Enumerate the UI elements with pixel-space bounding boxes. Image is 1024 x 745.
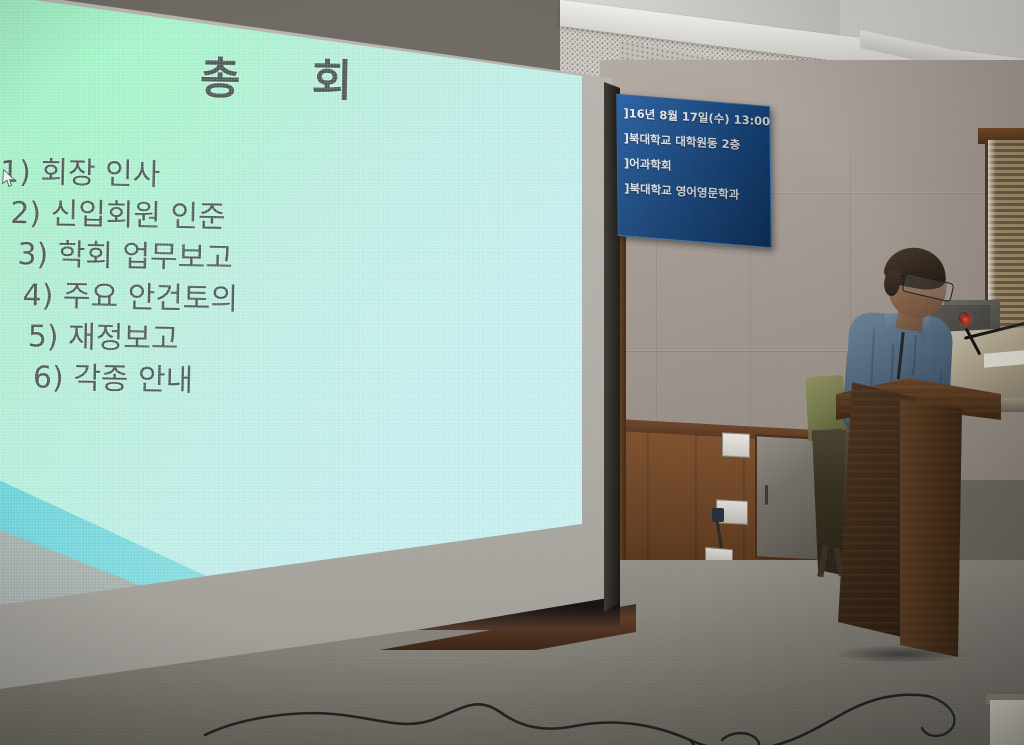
list-item: 5) 재정보고	[0, 316, 238, 362]
list-item: 2) 신입회원 인준	[0, 193, 240, 239]
list-item: 4) 주요 안건토의	[0, 275, 238, 321]
banner-line: ]북대학교 대학원동 2층	[624, 132, 772, 154]
banner-line: ]북대학교 영어영문학과	[624, 182, 772, 204]
wall-blank-plate	[722, 432, 750, 457]
photo-scene: 총 회 1) 회장 인사 2) 신입회원 인준 3) 학회 업무보고 4) 주요…	[0, 0, 1024, 745]
projected-slide: 총 회 1) 회장 인사 2) 신입회원 인준 3) 학회 업무보고 4) 주요…	[0, 0, 590, 614]
microphone-led-indicator	[962, 316, 969, 323]
slide-title: 총 회	[199, 42, 380, 109]
banner-line: ]어과학회	[624, 157, 772, 179]
banner-line: ]16년 8월 17일(수) 13:00~	[623, 107, 771, 129]
banner-text-block: ]16년 8월 17일(수) 13:00~ ]북대학교 대학원동 2층 ]어과학…	[623, 107, 771, 216]
wood-grain	[900, 395, 962, 657]
podium-front	[900, 395, 962, 657]
wall-panel-door[interactable]	[755, 434, 823, 562]
blue-banner: ]16년 8월 17일(수) 13:00~ ]북대학교 대학원동 2층 ]어과학…	[616, 94, 771, 249]
list-item: 3) 학회 업무보고	[0, 234, 239, 280]
list-item: 1) 회장 인사	[0, 152, 241, 198]
panel-door-handle[interactable]	[765, 485, 768, 505]
side-table	[990, 700, 1024, 745]
slide-agenda-list: 1) 회장 인사 2) 신입회원 인준 3) 학회 업무보고 4) 주요 안건토…	[0, 152, 241, 403]
list-item: 6) 각종 안내	[0, 357, 237, 403]
